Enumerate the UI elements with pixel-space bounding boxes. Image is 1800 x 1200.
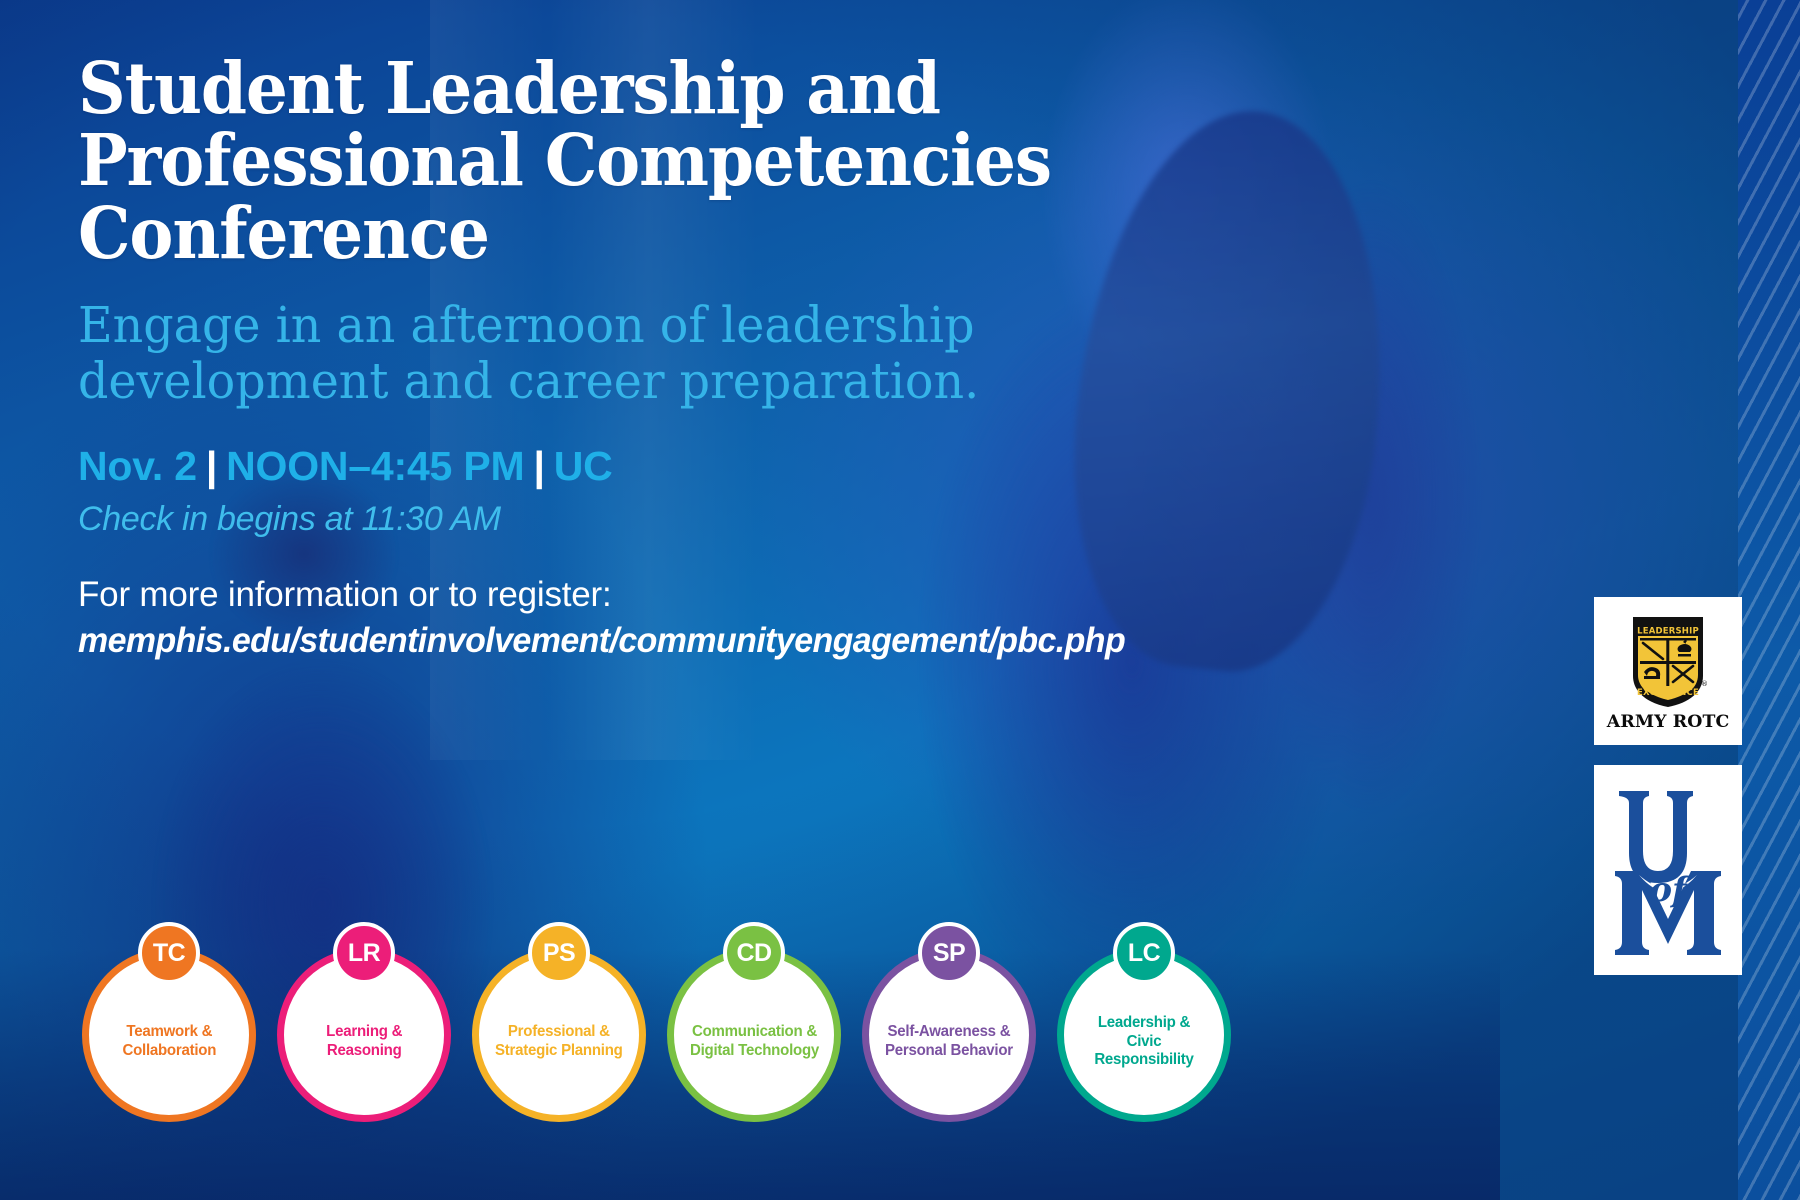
competency-label-line1-lr: Learning & xyxy=(326,1023,402,1040)
competency-circle-list: Teamwork & Collaboration TC Learning & R… xyxy=(82,948,1231,1122)
competency-label-line2-ps: Strategic Planning xyxy=(495,1042,623,1059)
competency-label-line1-cd: Communication & xyxy=(691,1023,816,1040)
competency-label-line2-cd: Digital Technology xyxy=(689,1042,818,1059)
datetime-separator-2: | xyxy=(524,443,553,489)
event-date: Nov. 2 xyxy=(78,443,197,489)
competency-item-ps[interactable]: Professional & Strategic Planning PS xyxy=(472,948,646,1122)
uofm-monogram-icon: of xyxy=(1609,779,1727,961)
event-datetime-line: Nov. 2|NOON–4:45 PM|UC xyxy=(78,443,1378,490)
diagonal-stripe-pattern xyxy=(1738,0,1800,1200)
competency-label-sp: Self-Awareness & Personal Behavior xyxy=(875,1023,1022,1061)
competency-label-line1-ps: Professional & xyxy=(508,1023,610,1040)
competency-label-line2-lc: Civic Responsibility xyxy=(1094,1033,1193,1069)
competency-label-line2-tc: Collaboration xyxy=(122,1042,216,1059)
register-label: For more information or to register: xyxy=(78,575,1378,615)
svg-text:®: ® xyxy=(1701,680,1707,688)
competency-item-lc[interactable]: Leadership & Civic Responsibility LC xyxy=(1057,948,1231,1122)
army-rotc-wordmark: ARMY ROTC xyxy=(1607,712,1730,732)
event-time: NOON–4:45 PM xyxy=(226,443,524,489)
page-title: Student Leadership and Professional Comp… xyxy=(78,52,1287,269)
page-subtitle: Engage in an afternoon of leadership dev… xyxy=(78,297,1171,409)
competency-badge-lr: LR xyxy=(333,922,395,984)
competency-label-cd: Communication & Digital Technology xyxy=(680,1023,828,1061)
svg-text:EXCELLENCE: EXCELLENCE xyxy=(1637,688,1699,698)
competency-label-line1-lc: Leadership & xyxy=(1098,1014,1190,1031)
competency-label-tc: Teamwork & Collaboration xyxy=(112,1023,225,1061)
poster-canvas: Student Leadership and Professional Comp… xyxy=(0,0,1800,1200)
competency-badge-ps: PS xyxy=(528,922,590,984)
competency-item-sp[interactable]: Self-Awareness & Personal Behavior SP xyxy=(862,948,1036,1122)
army-rotc-logo: LEADERSHIP EXCELLENCE ® ARMY ROTC xyxy=(1594,597,1742,745)
competency-label-line1-tc: Teamwork & xyxy=(126,1023,212,1040)
rotc-shield-icon: LEADERSHIP EXCELLENCE ® xyxy=(1629,614,1707,710)
competency-item-cd[interactable]: Communication & Digital Technology CD xyxy=(667,948,841,1122)
competency-label-lc: Leadership & Civic Responsibility xyxy=(1066,1014,1221,1071)
poster-content: Student Leadership and Professional Comp… xyxy=(78,52,1378,661)
competency-item-lr[interactable]: Learning & Reasoning LR xyxy=(277,948,451,1122)
competency-label-ps: Professional & Strategic Planning xyxy=(485,1023,632,1061)
competency-item-tc[interactable]: Teamwork & Collaboration TC xyxy=(82,948,256,1122)
checkin-note: Check in begins at 11:30 AM xyxy=(78,500,1378,539)
competency-badge-tc: TC xyxy=(138,922,200,984)
competency-label-line2-sp: Personal Behavior xyxy=(885,1042,1013,1059)
competency-label-line2-lr: Reasoning xyxy=(327,1042,402,1059)
competency-badge-lc: LC xyxy=(1113,922,1175,984)
competency-label-lr: Learning & Reasoning xyxy=(316,1023,411,1061)
competency-badge-sp: SP xyxy=(918,922,980,984)
svg-text:LEADERSHIP: LEADERSHIP xyxy=(1637,627,1699,637)
uofm-of-text: of xyxy=(1649,870,1692,910)
event-location: UC xyxy=(554,443,613,489)
competency-badge-cd: CD xyxy=(723,922,785,984)
university-of-memphis-logo: of xyxy=(1594,765,1742,975)
register-url[interactable]: memphis.edu/studentinvolvement/community… xyxy=(78,621,1339,661)
datetime-separator-1: | xyxy=(197,443,226,489)
competency-label-line1-sp: Self-Awareness & xyxy=(888,1023,1011,1040)
